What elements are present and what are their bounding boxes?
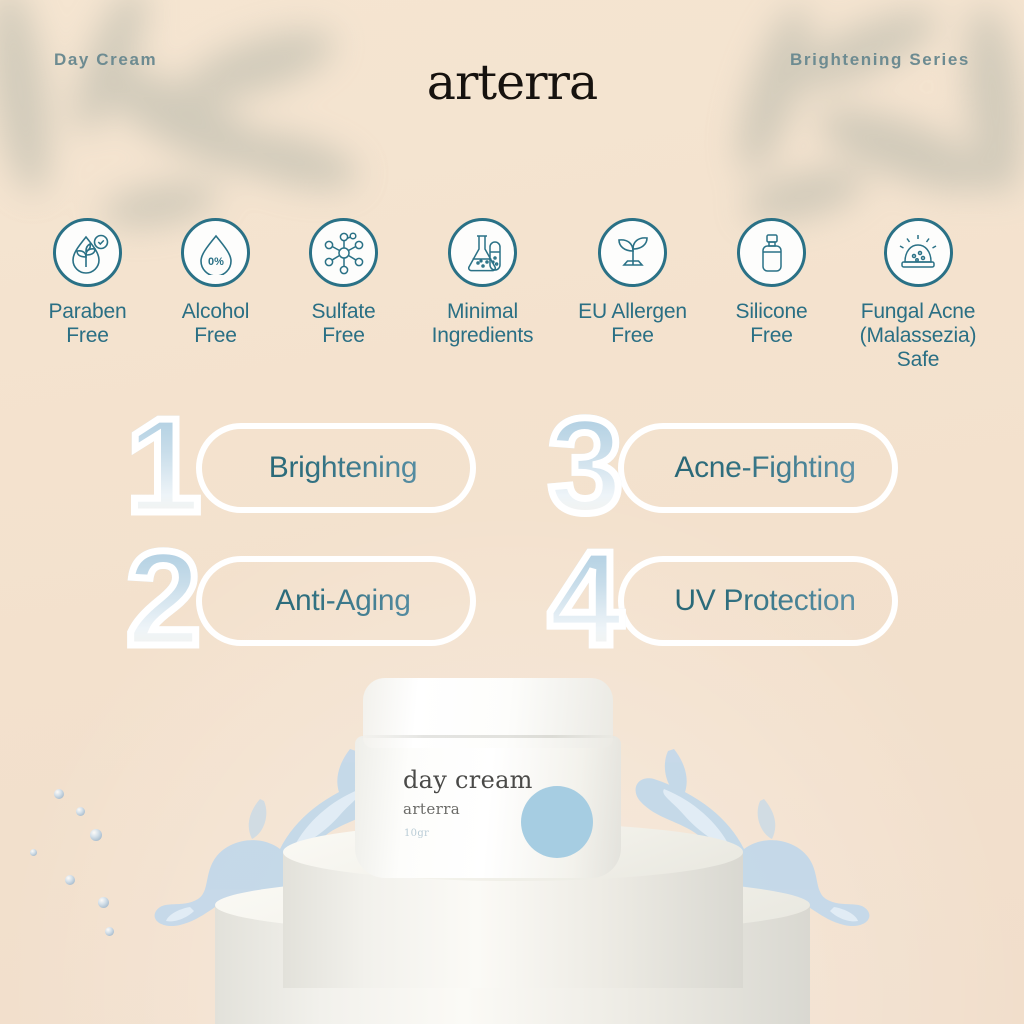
benefit-label: Anti-Aging xyxy=(218,556,468,646)
claim-label: Fungal Acne (Malassezia) Safe xyxy=(860,300,977,372)
claim-paraben-free: Paraben Free xyxy=(24,218,152,348)
benefit-item-4[interactable]: 4 UV Protection xyxy=(548,541,898,659)
droplet-leaf-check-icon xyxy=(53,218,122,287)
claim-label: Paraben Free xyxy=(49,300,127,348)
benefits-row-1: 1 Brightening 3 Acne-Fighting xyxy=(0,408,1024,528)
jar-label-title: day cream xyxy=(403,766,533,794)
jar-seam xyxy=(359,735,617,738)
claim-label: Minimal Ingredients xyxy=(432,300,534,348)
benefit-item-2[interactable]: 2 Anti-Aging xyxy=(126,541,476,659)
claim-silicone-free: Silicone Free xyxy=(708,218,836,348)
claim-fungal-acne-safe: Fungal Acne (Malassezia) Safe xyxy=(836,218,1001,372)
claim-alcohol-free: 0% Alcohol Free xyxy=(152,218,280,348)
jar-accent-dot xyxy=(521,786,593,858)
droplet-zero-percent-icon: 0% xyxy=(181,218,250,287)
claim-label: EU Allergen Free xyxy=(578,300,687,348)
water-droplet xyxy=(30,849,37,856)
claims-row: Paraben Free 0% Alcohol Free xyxy=(0,218,1024,372)
fungal-dome-icon xyxy=(884,218,953,287)
benefits-section: 1 Brightening 3 Acne-Fighting 2 Anti-Agi… xyxy=(0,408,1024,678)
water-droplet xyxy=(105,927,114,936)
water-droplet xyxy=(98,897,109,908)
molecule-icon xyxy=(309,218,378,287)
jar-label-brand: arterra xyxy=(403,800,460,818)
benefits-row-2: 2 Anti-Aging 4 UV Protection xyxy=(0,541,1024,661)
svg-text:0%: 0% xyxy=(208,256,224,268)
water-droplet xyxy=(54,789,64,799)
water-droplet xyxy=(76,807,85,816)
header: Day Cream Brightening Series arterra xyxy=(0,0,1024,150)
brand-logo: arterra xyxy=(0,58,1024,128)
benefit-item-3[interactable]: 3 Acne-Fighting xyxy=(548,408,898,526)
water-droplet xyxy=(65,875,75,885)
poster-canvas: Day Cream Brightening Series arterra Par… xyxy=(0,0,1024,1024)
benefit-label: UV Protection xyxy=(640,556,890,646)
benefit-label: Brightening xyxy=(218,423,468,513)
pump-bottle-icon xyxy=(737,218,806,287)
flask-test-tube-icon xyxy=(448,218,517,287)
brand-wordmark: arterra xyxy=(427,58,597,107)
benefit-label: Acne-Fighting xyxy=(640,423,890,513)
claim-label: Alcohol Free xyxy=(182,300,249,348)
product-jar: day cream arterra 10gr xyxy=(355,678,621,878)
claim-label: Sulfate Free xyxy=(312,300,376,348)
water-droplet xyxy=(90,829,102,841)
sprout-icon xyxy=(598,218,667,287)
claim-sulfate-free: Sulfate Free xyxy=(280,218,408,348)
product-scene: day cream arterra 10gr xyxy=(0,679,1024,1024)
claim-label: Silicone Free xyxy=(736,300,808,348)
claim-eu-allergen-free: EU Allergen Free xyxy=(558,218,708,348)
jar-label-weight: 10gr xyxy=(404,828,429,839)
benefit-item-1[interactable]: 1 Brightening xyxy=(126,408,476,526)
claim-minimal-ingredients: Minimal Ingredients xyxy=(408,218,558,348)
